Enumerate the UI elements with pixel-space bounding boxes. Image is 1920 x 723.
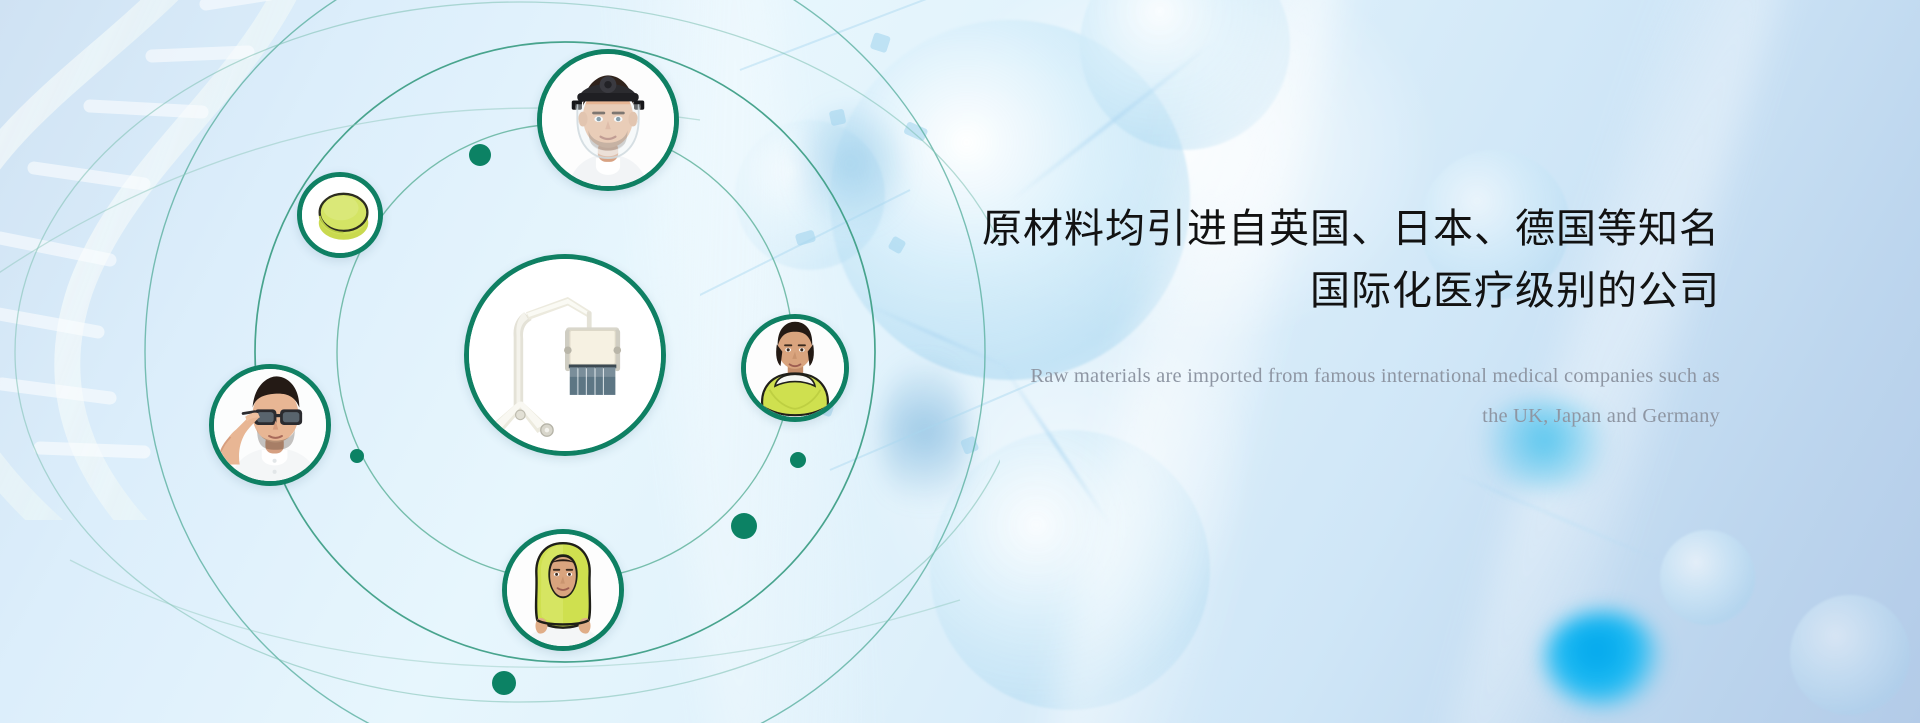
headline-line-1: 原材料均引进自英国、日本、德国等知名 [982,207,1720,251]
product-bubble-mobile-shield[interactable] [464,254,666,456]
protective-hood-photo [507,534,619,646]
product-bubble-thyroid-collar[interactable] [741,314,849,422]
orbit-dot [469,144,491,166]
lead-cap-photo [302,177,378,253]
lead-glasses-photo [214,369,326,481]
product-bubble-lead-cap[interactable] [297,172,383,258]
headline: 原材料均引进自英国、日本、德国等知名 国际化医疗级别的公司 [940,198,1720,322]
subtitle: Raw materials are imported from famous i… [940,356,1720,436]
orbit-dot [790,452,806,468]
hero-copy: 原材料均引进自英国、日本、德国等知名 国际化医疗级别的公司 Raw materi… [940,198,1720,436]
product-bubble-face-shield[interactable] [537,49,679,191]
face-shield-photo [542,54,674,186]
headline-line-2: 国际化医疗级别的公司 [940,260,1720,322]
orbit-dot [350,449,364,463]
orbit-dot [492,671,516,695]
product-bubble-lead-glasses[interactable] [209,364,331,486]
subtitle-line-1: Raw materials are imported from famous i… [1030,365,1720,387]
hero-banner: 原材料均引进自英国、日本、德国等知名 国际化医疗级别的公司 Raw materi… [0,0,1920,723]
subtitle-line-2: the UK, Japan and Germany [940,396,1720,436]
product-bubble-protective-hood[interactable] [502,529,624,651]
thyroid-collar-photo [746,319,844,417]
molecule-node-icon [1790,595,1910,715]
mobile-shield-photo [469,259,661,451]
cyan-accent [1543,612,1663,707]
molecule-node-icon [1660,530,1755,625]
orbit-dot [731,513,757,539]
